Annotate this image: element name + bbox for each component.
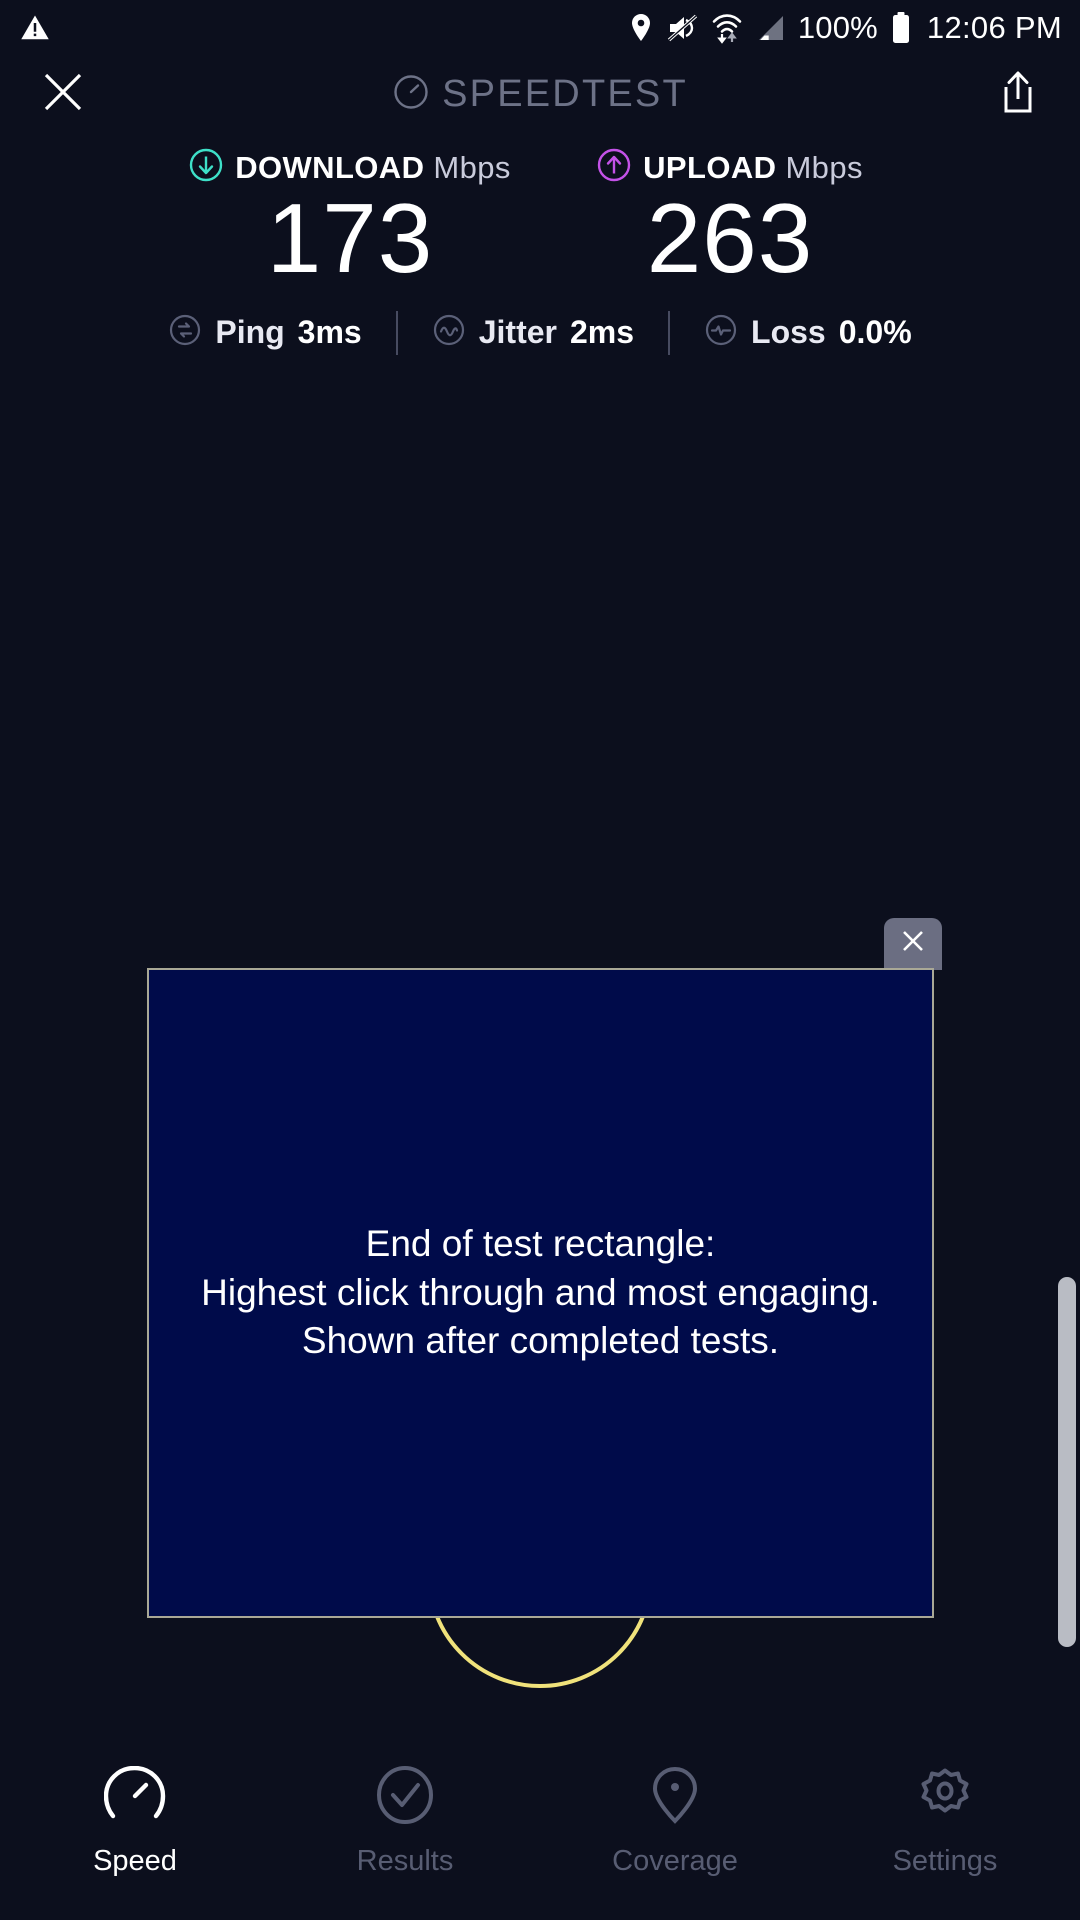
nav-item-speed[interactable]: Speed [0, 1766, 270, 1878]
nav-label-settings: Settings [893, 1845, 998, 1878]
loss-label: Loss [751, 314, 826, 351]
download-unit: Mbps [433, 150, 510, 185]
status-bar: 100% 12:06 PM [0, 0, 1080, 56]
upload-arrow-icon [597, 148, 631, 187]
ping-label: Ping [215, 314, 284, 351]
metric-ping: Ping 3ms [134, 313, 395, 352]
speedometer-icon [392, 73, 430, 116]
advertisement-area: End of test rectangle: Highest click thr… [0, 355, 1080, 1462]
battery-full-icon [891, 12, 911, 44]
close-button[interactable] [40, 69, 86, 120]
nav-label-coverage: Coverage [612, 1845, 738, 1878]
jitter-label: Jitter [479, 314, 557, 351]
download-result: DOWNLOAD Mbps 173 [160, 148, 540, 289]
nav-label-results: Results [357, 1845, 454, 1878]
nav-label-speed: Speed [93, 1845, 177, 1878]
upload-label: UPLOAD Mbps [643, 150, 863, 186]
upload-value: 263 [647, 189, 814, 289]
status-bar-right: 100% 12:06 PM [628, 10, 1062, 46]
upload-label-text: UPLOAD [643, 150, 776, 185]
battery-percent-label: 100% [798, 10, 878, 46]
close-icon [40, 69, 86, 120]
upload-unit: Mbps [785, 150, 862, 185]
bottom-navigation: Speed Results Coverage [0, 1752, 1080, 1920]
loss-value: 0.0% [839, 314, 912, 351]
ad-line-2: Highest click through and most engaging. [201, 1269, 880, 1318]
nav-item-coverage[interactable]: Coverage [540, 1766, 810, 1878]
speedometer-icon [104, 1766, 166, 1829]
network-metrics: Ping 3ms Jitter 2ms Loss 0.0% [0, 311, 1080, 355]
speed-readouts: DOWNLOAD Mbps 173 UPLOAD Mbps 263 [0, 148, 1080, 289]
download-arrow-icon [189, 148, 223, 187]
close-icon [899, 927, 927, 960]
download-label-text: DOWNLOAD [235, 150, 424, 185]
download-label: DOWNLOAD Mbps [235, 150, 511, 186]
volume-muted-icon [667, 13, 699, 43]
share-button[interactable] [998, 69, 1038, 120]
ad-close-button[interactable] [884, 918, 942, 970]
brand-logo: SPEEDTEST [0, 73, 1080, 116]
scrollbar-thumb[interactable] [1058, 1277, 1076, 1647]
upload-result: UPLOAD Mbps 263 [540, 148, 920, 289]
ad-text: End of test rectangle: Highest click thr… [191, 1220, 890, 1366]
nav-item-settings[interactable]: Settings [810, 1766, 1080, 1878]
ad-banner[interactable]: End of test rectangle: Highest click thr… [147, 968, 934, 1618]
results-summary: DOWNLOAD Mbps 173 UPLOAD Mbps 263 [0, 132, 1080, 355]
ping-value: 3ms [298, 314, 362, 351]
share-icon [998, 69, 1038, 120]
metric-loss: Loss 0.0% [670, 313, 946, 352]
ad-line-3: Shown after completed tests. [201, 1317, 880, 1366]
speedtest-app-screen: 100% 12:06 PM SPEEDTEST [0, 0, 1080, 1920]
nav-item-results[interactable]: Results [270, 1766, 540, 1878]
ad-line-1: End of test rectangle: [201, 1220, 880, 1269]
download-value: 173 [267, 189, 434, 289]
clock-label: 12:06 PM [927, 10, 1062, 46]
check-circle-icon [375, 1766, 435, 1829]
metric-jitter: Jitter 2ms [398, 313, 668, 352]
cell-signal-icon [755, 14, 785, 42]
upload-label-row: UPLOAD Mbps [597, 148, 863, 187]
ping-icon [168, 313, 202, 352]
loss-icon [704, 313, 738, 352]
brand-title: SPEEDTEST [442, 73, 688, 116]
app-header: SPEEDTEST [0, 56, 1080, 132]
download-label-row: DOWNLOAD Mbps [189, 148, 511, 187]
jitter-value: 2ms [570, 314, 634, 351]
map-pin-icon [648, 1766, 702, 1829]
wifi-transfer-icon [712, 12, 742, 44]
jitter-icon [432, 313, 466, 352]
location-pin-icon [628, 13, 654, 43]
gear-icon [915, 1766, 975, 1829]
warning-triangle-icon [20, 13, 50, 43]
status-bar-left [20, 13, 50, 43]
